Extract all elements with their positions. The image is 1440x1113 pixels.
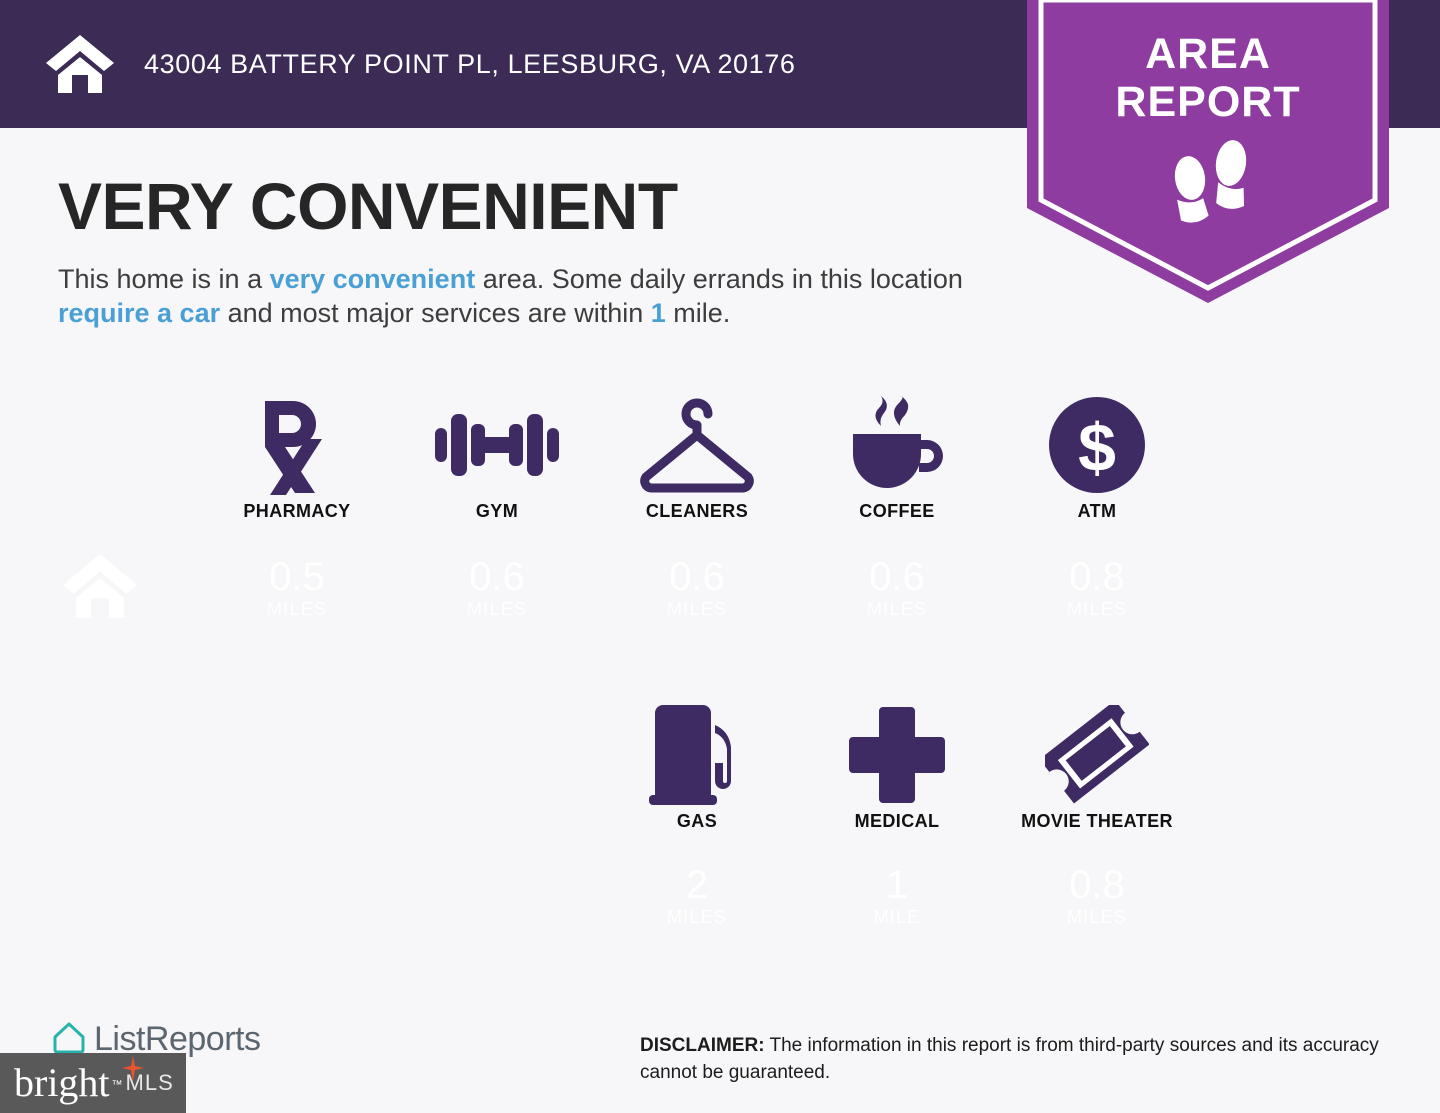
segment-turn-top [1197, 528, 1397, 638]
summary-text: This home is in a very convenient area. … [58, 262, 1018, 330]
bright-mls-wordmark: bright ™ [14, 1063, 110, 1103]
lede-part-1: This home is in a [58, 264, 270, 294]
property-address: 43004 BATTERY POINT PL, LEESBURG, VA 201… [144, 49, 796, 80]
dumbbell-icon [435, 395, 559, 495]
bright-mls-name: bright [14, 1060, 110, 1105]
page-title: VERY CONVENIENT [58, 170, 678, 242]
home-icon [44, 33, 116, 95]
svg-text:$: $ [1078, 410, 1116, 486]
lede-highlight-3: 1 [651, 298, 666, 328]
segment-gym [397, 528, 597, 638]
amenity-pharmacy: PHARMACY [197, 382, 397, 522]
lede-part-3: and most major services are within [220, 298, 651, 328]
segment-gas [597, 833, 797, 945]
segment-atm [997, 528, 1197, 638]
home-icon [60, 552, 140, 620]
lede-highlight-2: require a car [58, 298, 220, 328]
dollar-circle-icon: $ [1049, 395, 1145, 495]
lede-part-2: area. Some daily errands in this locatio… [475, 264, 963, 294]
amenity-label: ATM [1078, 501, 1117, 522]
prescription-rx-icon [251, 395, 343, 495]
segment-lead-left [258, 833, 398, 945]
amenity-coffee: COFFEE [797, 382, 997, 522]
area-report-infographic: 43004 BATTERY POINT PL, LEESBURG, VA 201… [0, 0, 1440, 1113]
amenity-cleaners: CLEANERS [597, 382, 797, 522]
lede-highlight-1: very convenient [270, 264, 476, 294]
segment-cleaners [597, 528, 797, 638]
amenity-label: PHARMACY [243, 501, 350, 522]
area-report-badge: AREA REPORT [1027, 0, 1389, 303]
header-content: 43004 BATTERY POINT PL, LEESBURG, VA 201… [44, 0, 796, 128]
amenity-icon-row-1: PHARMACY GYM [0, 382, 1440, 522]
segment-movie [997, 833, 1197, 945]
amenity-atm: $ ATM [997, 382, 1197, 522]
amenity-label: CLEANERS [646, 501, 748, 522]
segment-tail [258, 943, 398, 1113]
segment-coffee [797, 528, 997, 638]
lede-part-4: mile. [666, 298, 731, 328]
segment-pharmacy [197, 528, 397, 638]
clothes-hanger-icon [633, 395, 761, 495]
segment-lead [397, 833, 597, 945]
segment-medical [797, 833, 997, 945]
spark-icon [122, 1056, 144, 1082]
disclaimer: DISCLAIMER: The information in this repo… [640, 1032, 1400, 1086]
bright-mls-watermark: bright ™ MLS [0, 1053, 186, 1113]
amenity-label: GYM [476, 501, 518, 522]
amenity-gym: GYM [397, 382, 597, 522]
amenity-label: COFFEE [859, 501, 934, 522]
coffee-cup-icon [845, 395, 949, 495]
disclaimer-label: DISCLAIMER: [640, 1035, 765, 1056]
trademark-symbol: ™ [112, 1065, 123, 1105]
